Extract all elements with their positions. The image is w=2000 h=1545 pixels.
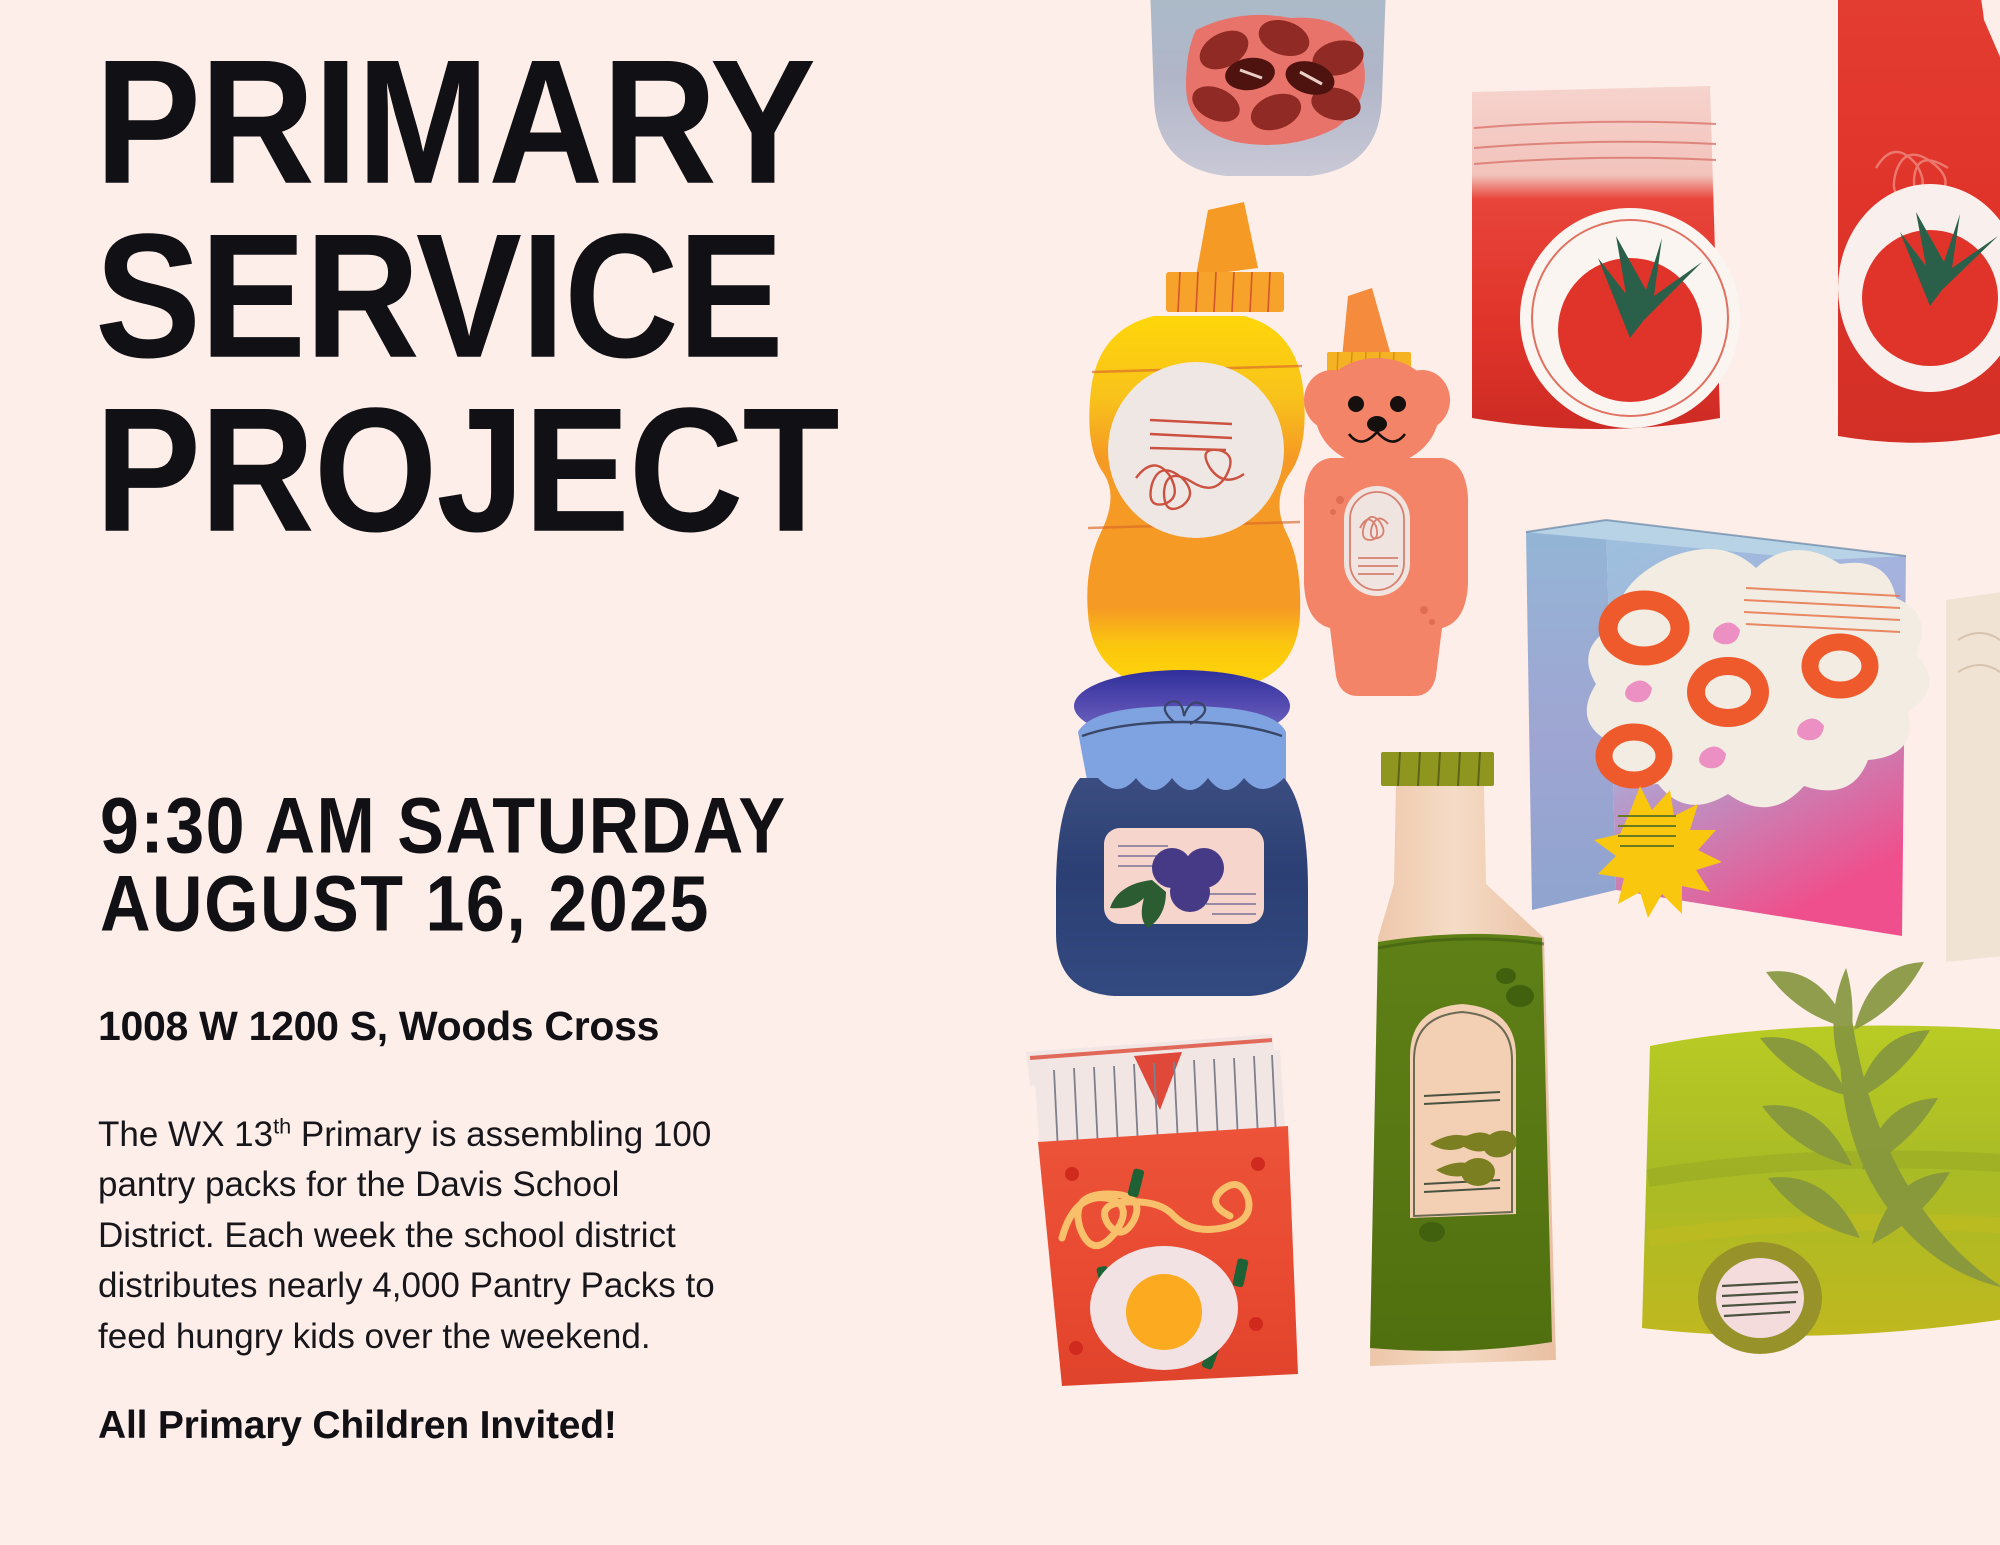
- olive-oil-bottle-illustration: [1370, 752, 1556, 1366]
- invitation-line: All Primary Children Invited!: [98, 1404, 617, 1448]
- ramen-cup-illustration: [1026, 1034, 1298, 1386]
- mustard-bottle-illustration: [1087, 202, 1304, 690]
- headline-line-3: PROJECT: [95, 388, 901, 551]
- cereal-box-illustration: [1526, 520, 1929, 936]
- headline-line-2: SERVICE: [95, 214, 901, 377]
- event-date-line: AUGUST 16, 2025: [100, 860, 860, 948]
- ordinal-suffix: th: [273, 1113, 291, 1138]
- description-part-1: The WX 13: [98, 1115, 273, 1154]
- tomato-can-illustration: [1472, 86, 1740, 429]
- ketchup-bottle-illustration: [1838, 0, 2000, 443]
- event-description: The WX 13th Primary is assembling 100 pa…: [98, 1110, 718, 1362]
- jam-jar-illustration: [1056, 670, 1308, 996]
- event-datetime: 9:30 AM SATURDAY AUGUST 16, 2025: [100, 782, 860, 939]
- beans-jar-illustration: [1148, 0, 1388, 176]
- poster-text-column: PRIMARY SERVICE PROJECT 9:30 AM SATURDAY…: [95, 0, 855, 1545]
- paper-bag-illustration: [1946, 592, 2000, 962]
- event-address: 1008 W 1200 S, Woods Cross: [98, 1003, 659, 1050]
- event-time-line: 9:30 AM SATURDAY: [100, 782, 860, 870]
- poster-canvas: PRIMARY SERVICE PROJECT 9:30 AM SATURDAY…: [0, 0, 2000, 1545]
- green-tin-illustration: [1642, 962, 2000, 1354]
- poster-headline: PRIMARY SERVICE PROJECT: [95, 40, 855, 562]
- headline-line-1: PRIMARY: [95, 40, 901, 203]
- honey-bear-illustration: [1304, 288, 1468, 696]
